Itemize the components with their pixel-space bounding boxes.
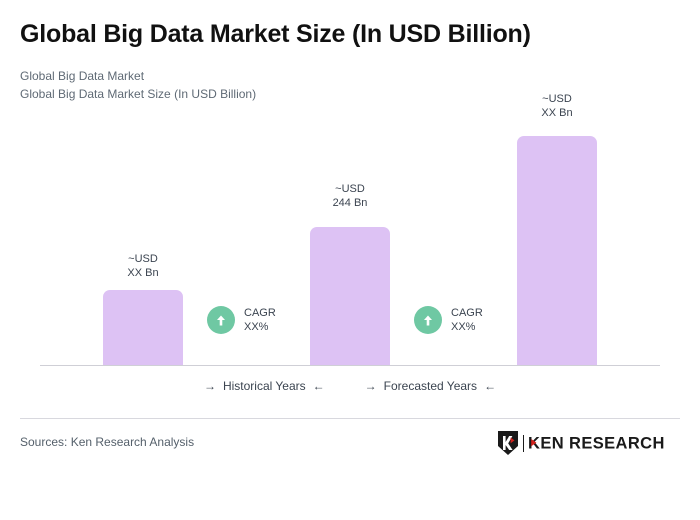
bar-value-label-line2: XX Bn: [127, 267, 158, 279]
bar-value-label: ~USD 244 Bn: [310, 182, 390, 210]
arrow-left-icon: ←: [484, 380, 496, 392]
axis-period-legend: → Historical Years ← → Forecasted Years …: [0, 379, 700, 393]
legend-forecasted-years: → Forecasted Years ←: [365, 379, 496, 393]
axis-baseline: [40, 365, 660, 366]
bar-historical[interactable]: [103, 290, 183, 365]
arrow-left-icon: ←: [313, 380, 325, 392]
bar-value-label: ~USD XX Bn: [103, 252, 183, 280]
cagr-label: CAGR: [244, 307, 276, 319]
ken-research-shield-icon: [497, 430, 519, 456]
cagr-text: CAGR XX%: [451, 306, 483, 334]
bar-value-label-line1: ~USD: [335, 183, 365, 195]
cagr-badge[interactable]: CAGR XX%: [414, 306, 483, 334]
bar-value-label-line2: XX Bn: [541, 107, 572, 119]
cagr-badge[interactable]: CAGR XX%: [207, 306, 276, 334]
bar-mid[interactable]: [310, 227, 390, 365]
cagr-value: XX%: [244, 321, 268, 333]
sources-text: Sources: Ken Research Analysis: [20, 435, 194, 449]
ken-research-wordmark: KEN RESEARCH: [528, 433, 680, 453]
bar-value-label-line1: ~USD: [128, 253, 158, 265]
bar-forecast[interactable]: [517, 136, 597, 365]
ken-research-logo: KEN RESEARCH: [497, 430, 680, 456]
bar-value-label: ~USD XX Bn: [517, 92, 597, 120]
footer-divider: [20, 418, 680, 419]
logo-separator: [523, 435, 524, 452]
chart-page: Global Big Data Market Size (In USD Bill…: [0, 0, 700, 520]
legend-forecast-label: Forecasted Years: [384, 379, 477, 393]
svg-text:KEN RESEARCH: KEN RESEARCH: [528, 435, 665, 453]
legend-historical-years: → Historical Years ←: [204, 379, 325, 393]
cagr-label: CAGR: [451, 307, 483, 319]
footer: Sources: Ken Research Analysis KEN RESEA…: [0, 430, 700, 464]
bar-chart-plot: ~USD XX Bn CAGR XX% ~USD 244 Bn: [0, 0, 700, 400]
cagr-text: CAGR XX%: [244, 306, 276, 334]
bar-value-label-line2: 244 Bn: [333, 197, 368, 209]
up-arrow-icon: [207, 306, 235, 334]
bar-value-label-line1: ~USD: [542, 93, 572, 105]
legend-historical-label: Historical Years: [223, 379, 306, 393]
arrow-right-icon: →: [204, 380, 216, 392]
arrow-right-icon: →: [365, 380, 377, 392]
up-arrow-icon: [414, 306, 442, 334]
cagr-value: XX%: [451, 321, 475, 333]
